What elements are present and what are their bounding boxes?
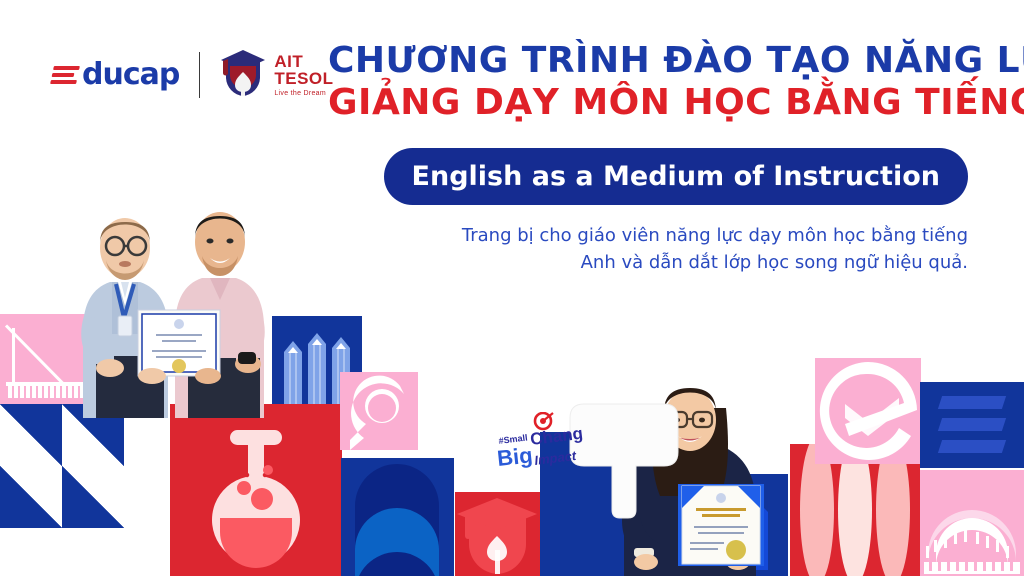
svg-text:Big: Big [496,442,534,471]
logo-bar: ducap AIT TESOL Live the Dream [52,48,334,101]
swirl-icon [340,372,418,450]
educap-logo[interactable]: ducap [52,57,179,92]
svg-text:Impact: Impact [534,448,578,468]
two-men-with-certificate-photo [52,186,308,418]
sign-text-group: #Small Changes Big Impact [487,412,583,482]
triangle-grid-icon [0,404,124,528]
headline-group: CHƯƠNG TRÌNH ĐÀO TẠO NĂNG LỰC GIẢNG DẠY … [328,40,968,125]
educap-bars-icon [50,66,80,84]
arches-icon [341,458,454,576]
graduation-cap-icon [455,492,540,576]
headline-line1: CHƯƠNG TRÌNH ĐÀO TẠO NĂNG LỰC [328,40,968,82]
poster-canvas: #Small Changes Big Impact ducap [0,0,1024,576]
stripes-icon [920,382,1024,468]
educap-wordmark: ducap [82,57,179,92]
ait-line2: TESOL [274,70,333,87]
ait-shield-icon [220,48,266,101]
logo-divider [199,52,200,98]
woman-with-certificate-photo [560,372,790,576]
subtitle-text: Trang bị cho giáo viên năng lực dạy môn … [428,222,968,276]
headline-line2: GIẢNG DẠY MÔN HỌC BẰNG TIẾNG ANH [328,82,968,124]
ait-line1: AIT [274,53,333,70]
e-check-icon [815,358,921,464]
flask-icon [170,404,342,576]
protractor-icon [920,470,1024,576]
ait-tagline: Live the Dream [274,90,333,97]
program-name-badge: English as a Medium of Instruction [384,148,968,205]
ait-tesol-logo[interactable]: AIT TESOL Live the Dream [220,48,333,101]
